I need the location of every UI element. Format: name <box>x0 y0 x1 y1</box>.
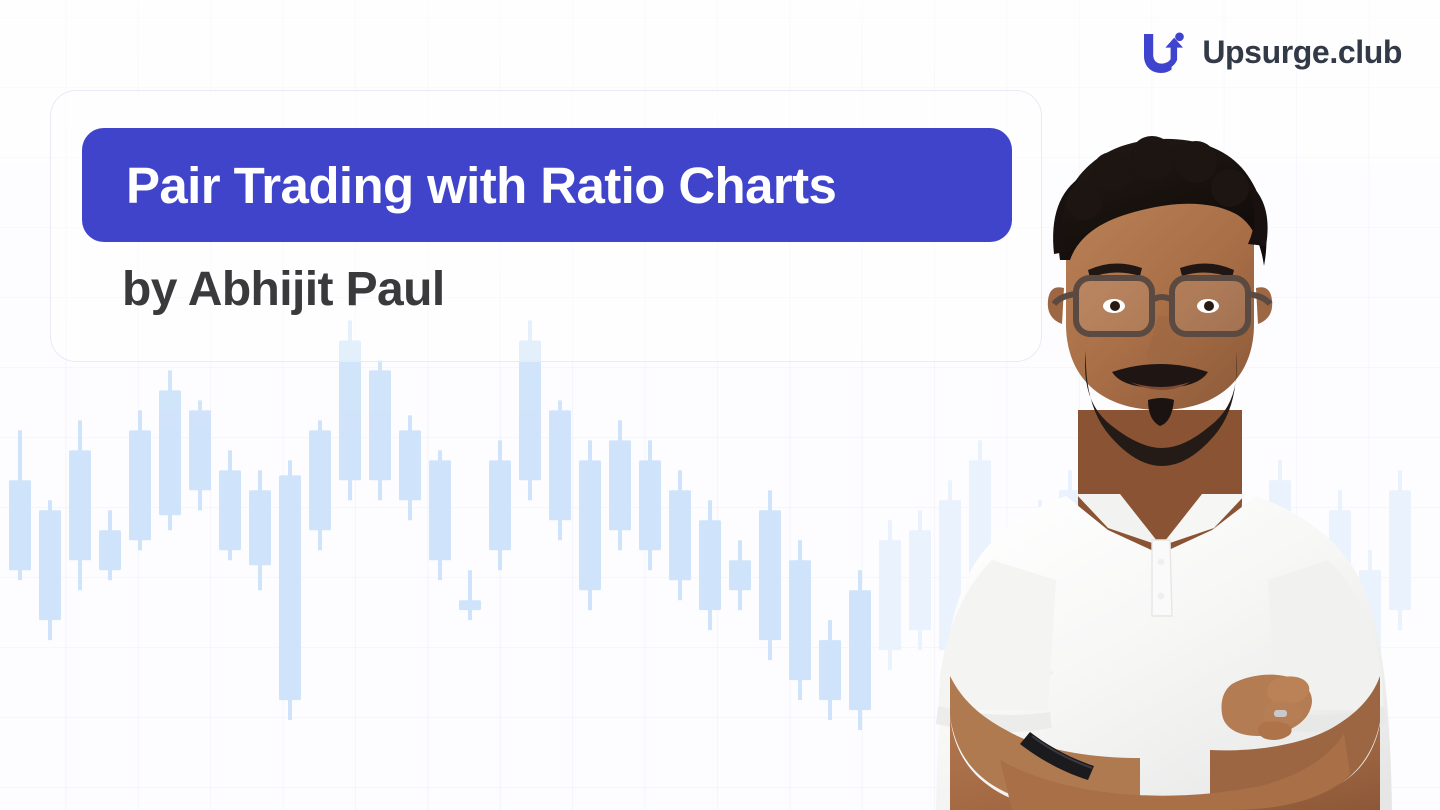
brand-name-label: Upsurge.club <box>1202 36 1402 68</box>
upsurge-arrow-logo-icon <box>1138 26 1190 78</box>
page-title: Pair Trading with Ratio Charts <box>126 160 836 211</box>
presenter-portrait <box>880 110 1440 810</box>
speaker-byline: by Abhijit Paul <box>122 266 445 314</box>
title-banner: Pair Trading with Ratio Charts <box>82 128 1012 242</box>
presentation-slide: Upsurge.club Pair Trading with Ratio Cha… <box>0 0 1440 810</box>
brand-logo[interactable]: Upsurge.club <box>1138 26 1402 78</box>
